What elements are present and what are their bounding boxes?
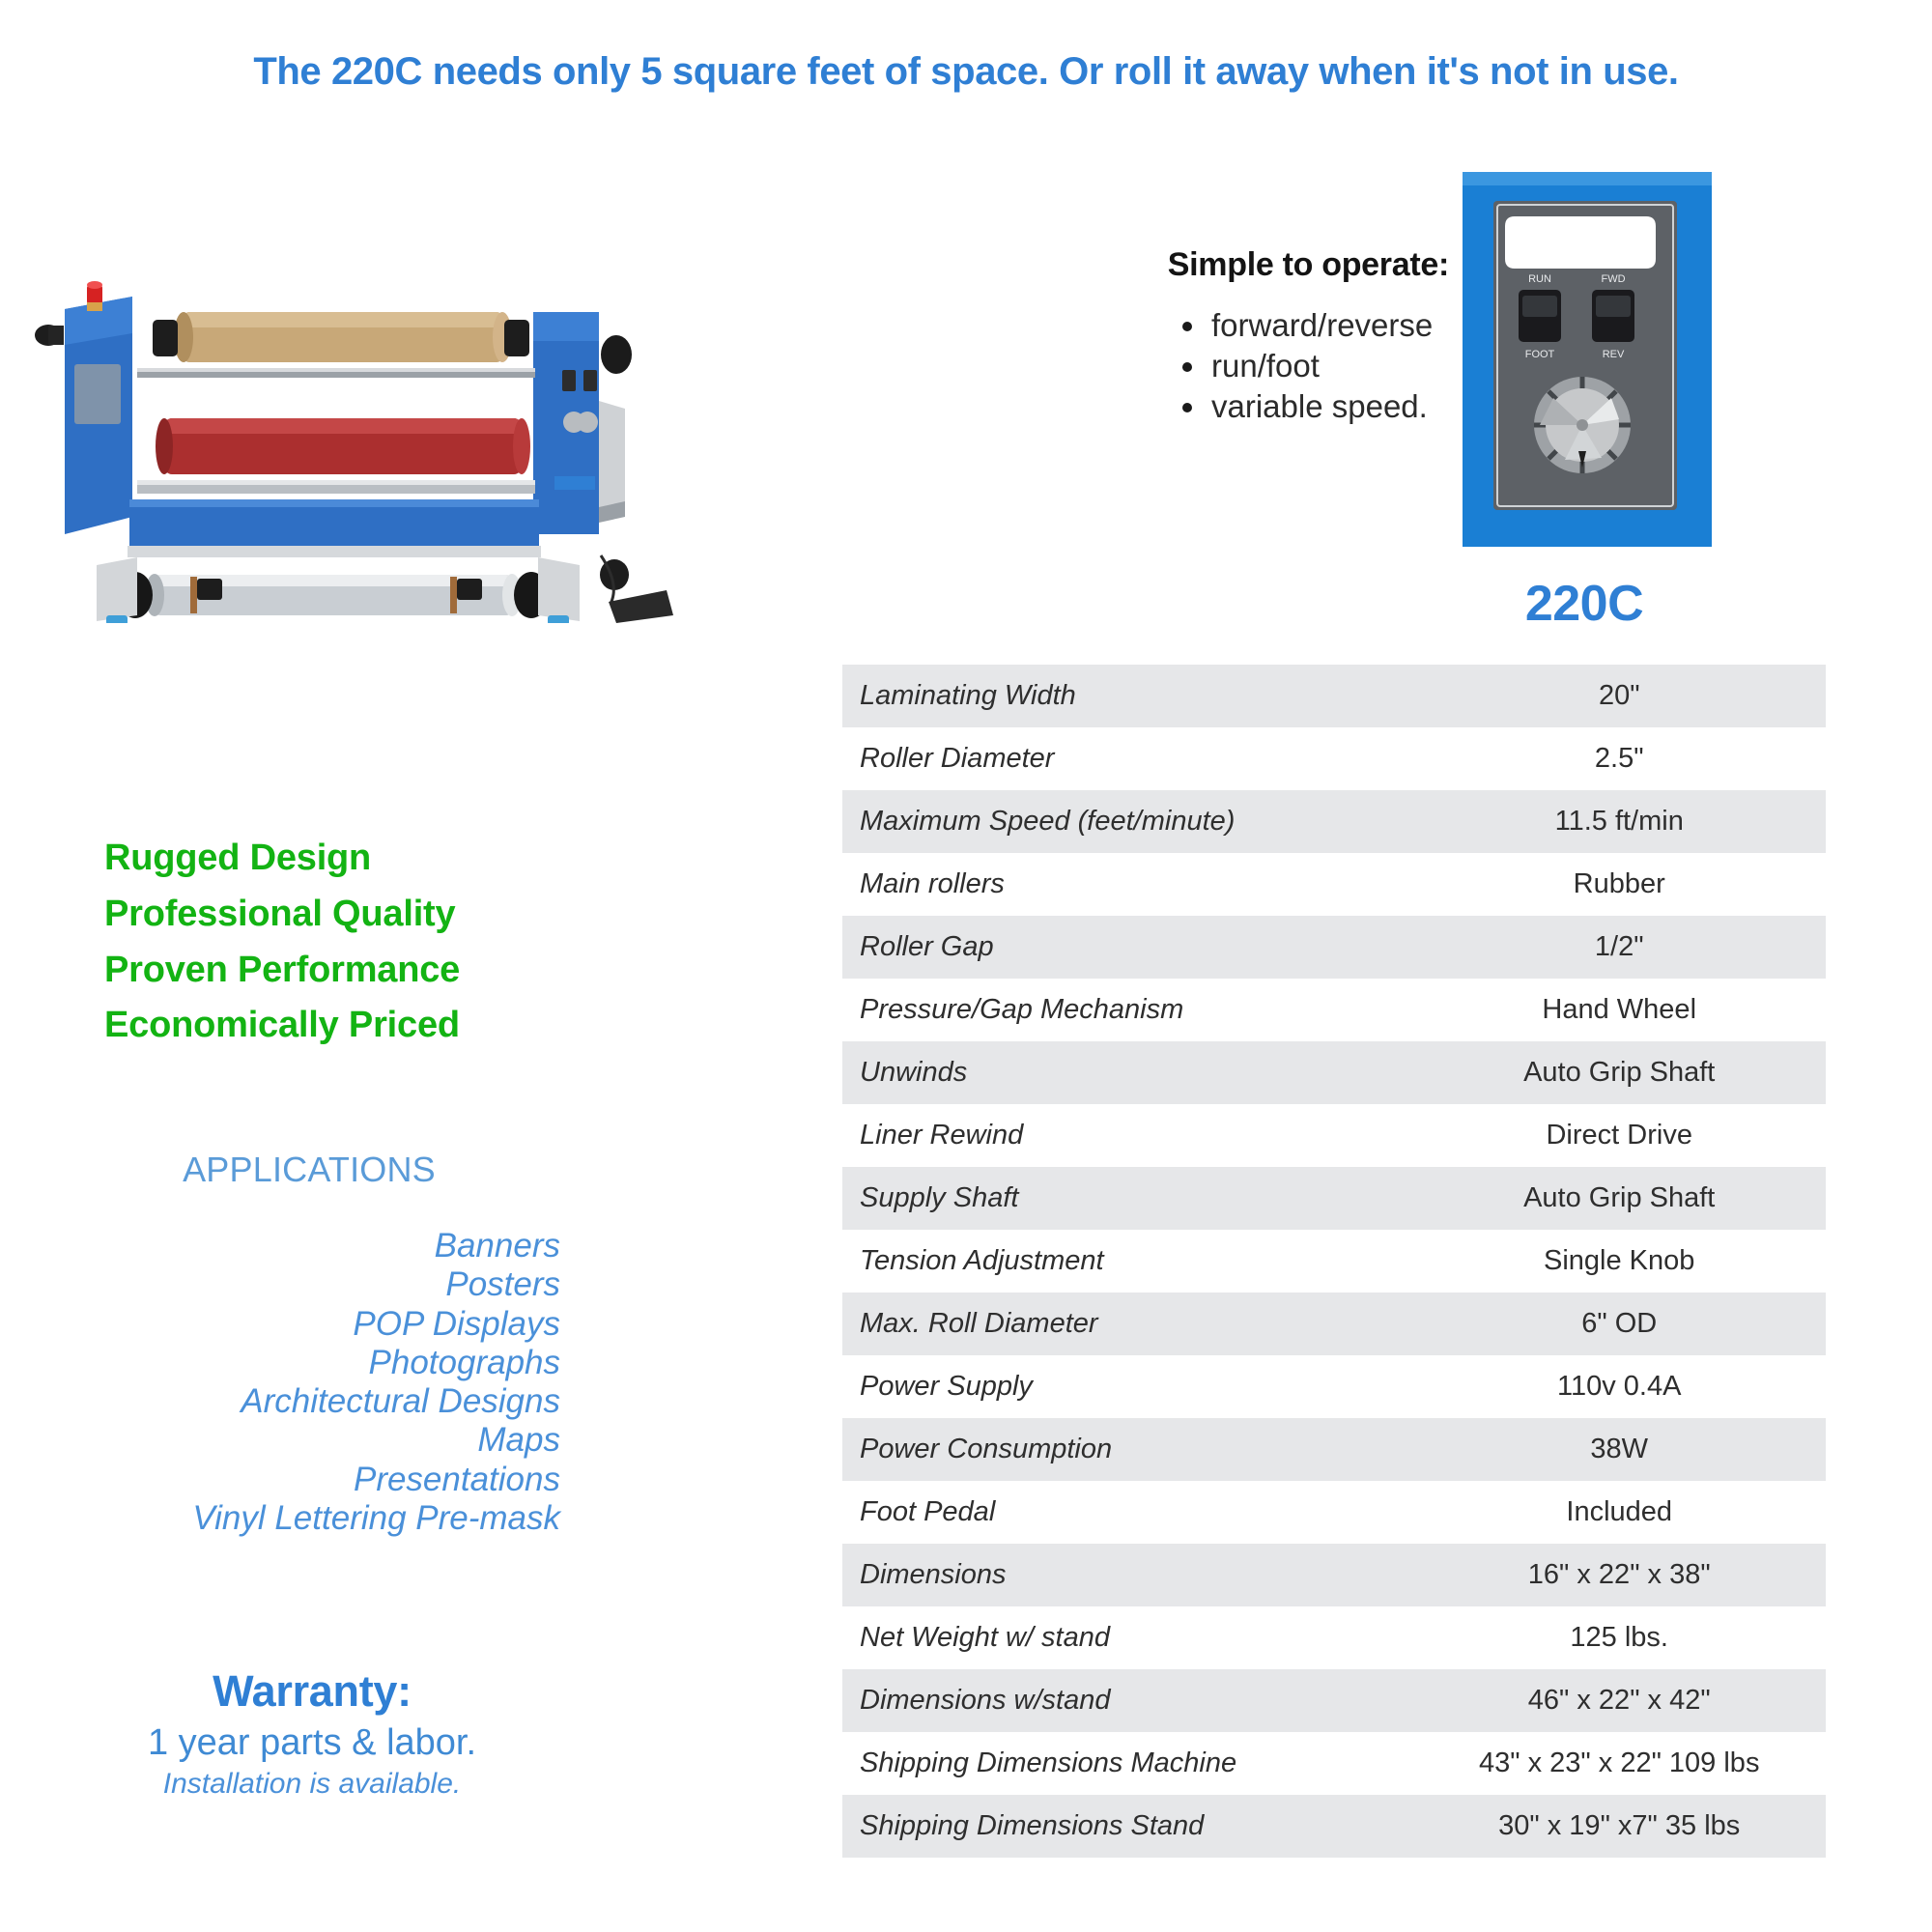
table-row: Power Consumption38W bbox=[842, 1418, 1826, 1481]
operate-feature-list: forward/reverse run/foot variable speed. bbox=[1005, 305, 1449, 428]
spec-value: 38W bbox=[1412, 1418, 1826, 1481]
table-row: Power Supply110v 0.4A bbox=[842, 1355, 1826, 1418]
table-row: Maximum Speed (feet/minute)11.5 ft/min bbox=[842, 790, 1826, 853]
spec-label: Laminating Width bbox=[842, 665, 1412, 727]
spec-value: Rubber bbox=[1412, 853, 1826, 916]
model-name: 220C bbox=[1420, 575, 1748, 633]
spec-value: Single Knob bbox=[1412, 1230, 1826, 1293]
spec-label: Pressure/Gap Mechanism bbox=[842, 979, 1412, 1041]
table-row: Shipping Dimensions Stand30" x 19" x7" 3… bbox=[842, 1795, 1826, 1858]
spec-label: Shipping Dimensions Machine bbox=[842, 1732, 1412, 1795]
panel-label-run: RUN bbox=[1528, 273, 1551, 285]
spec-value: 1/2" bbox=[1412, 916, 1826, 979]
spec-value: 11.5 ft/min bbox=[1412, 790, 1826, 853]
spec-value: 110v 0.4A bbox=[1412, 1355, 1826, 1418]
bullet-icon bbox=[1182, 322, 1192, 331]
claim-item: Economically Priced bbox=[104, 998, 723, 1054]
spec-label: Power Supply bbox=[842, 1355, 1412, 1418]
brochure-page: The 220C needs only 5 square feet of spa… bbox=[0, 0, 1932, 1932]
table-row: Main rollersRubber bbox=[842, 853, 1826, 916]
list-item: Architectural Designs bbox=[58, 1382, 560, 1421]
spec-value: Auto Grip Shaft bbox=[1412, 1041, 1826, 1104]
spec-value: 20" bbox=[1412, 665, 1826, 727]
table-row: Supply ShaftAuto Grip Shaft bbox=[842, 1167, 1826, 1230]
spec-label: Tension Adjustment bbox=[842, 1230, 1412, 1293]
list-item: Banners bbox=[58, 1227, 560, 1265]
operate-item-label: forward/reverse bbox=[1211, 307, 1433, 343]
spec-label: Unwinds bbox=[842, 1041, 1412, 1104]
claim-item: Professional Quality bbox=[104, 887, 723, 943]
warranty-installation-note: Installation is available. bbox=[56, 1768, 568, 1801]
specifications-table-body: Laminating Width20" Roller Diameter2.5" … bbox=[842, 665, 1826, 1858]
spec-label: Power Consumption bbox=[842, 1418, 1412, 1481]
spec-label: Maximum Speed (feet/minute) bbox=[842, 790, 1412, 853]
spec-label: Main rollers bbox=[842, 853, 1412, 916]
list-item: forward/reverse bbox=[1179, 305, 1449, 346]
spec-value: 16" x 22" x 38" bbox=[1412, 1544, 1826, 1606]
spec-label: Net Weight w/ stand bbox=[842, 1606, 1412, 1669]
list-item: Presentations bbox=[58, 1461, 560, 1499]
list-item: Maps bbox=[58, 1421, 560, 1460]
panel-label-foot: FOOT bbox=[1525, 349, 1555, 360]
list-item: Photographs bbox=[58, 1344, 560, 1382]
laminator-machine-photo bbox=[21, 275, 688, 623]
operate-item-label: run/foot bbox=[1211, 348, 1320, 384]
table-row: Max. Roll Diameter6" OD bbox=[842, 1293, 1826, 1355]
applications-block: APPLICATIONS Banners Posters POP Display… bbox=[58, 1150, 560, 1538]
list-item: Vinyl Lettering Pre-mask bbox=[58, 1499, 560, 1538]
applications-list: Banners Posters POP Displays Photographs… bbox=[58, 1227, 560, 1538]
page-headline: The 220C needs only 5 square feet of spa… bbox=[0, 50, 1932, 94]
specifications-table: Laminating Width20" Roller Diameter2.5" … bbox=[842, 665, 1826, 1858]
warranty-block: Warranty: 1 year parts & labor. Installa… bbox=[56, 1666, 568, 1801]
operate-item-label: variable speed. bbox=[1211, 388, 1428, 424]
spec-value: 125 lbs. bbox=[1412, 1606, 1826, 1669]
claims-block: Rugged Design Professional Quality Prove… bbox=[104, 831, 723, 1054]
table-row: Shipping Dimensions Machine43" x 23" x 2… bbox=[842, 1732, 1826, 1795]
spec-value: Direct Drive bbox=[1412, 1104, 1826, 1167]
table-row: Dimensions w/stand46" x 22" x 42" bbox=[842, 1669, 1826, 1732]
spec-value: Auto Grip Shaft bbox=[1412, 1167, 1826, 1230]
bullet-icon bbox=[1182, 403, 1192, 412]
applications-title: APPLICATIONS bbox=[58, 1150, 560, 1190]
spec-label: Foot Pedal bbox=[842, 1481, 1412, 1544]
list-item: variable speed. bbox=[1179, 386, 1449, 427]
panel-label-fwd: FWD bbox=[1601, 273, 1625, 285]
warranty-terms: 1 year parts & labor. bbox=[56, 1722, 568, 1764]
spec-label: Shipping Dimensions Stand bbox=[842, 1795, 1412, 1858]
spec-value: 46" x 22" x 42" bbox=[1412, 1669, 1826, 1732]
spec-label: Supply Shaft bbox=[842, 1167, 1412, 1230]
table-row: Laminating Width20" bbox=[842, 665, 1826, 727]
table-row: Tension AdjustmentSingle Knob bbox=[842, 1230, 1826, 1293]
table-row: Foot PedalIncluded bbox=[842, 1481, 1826, 1544]
table-row: Dimensions16" x 22" x 38" bbox=[842, 1544, 1826, 1606]
spec-value: Included bbox=[1412, 1481, 1826, 1544]
spec-value: 43" x 23" x 22" 109 lbs bbox=[1412, 1732, 1826, 1795]
spec-label: Roller Gap bbox=[842, 916, 1412, 979]
table-row: Pressure/Gap MechanismHand Wheel bbox=[842, 979, 1826, 1041]
panel-label-rev: REV bbox=[1603, 349, 1625, 360]
spec-value: 2.5" bbox=[1412, 727, 1826, 790]
simple-to-operate-title: Simple to operate: bbox=[1005, 246, 1449, 284]
spec-label: Roller Diameter bbox=[842, 727, 1412, 790]
claim-item: Rugged Design bbox=[104, 831, 723, 887]
bullet-icon bbox=[1182, 362, 1192, 372]
list-item: run/foot bbox=[1179, 346, 1449, 386]
simple-to-operate-block: Simple to operate: forward/reverse run/f… bbox=[1005, 246, 1449, 428]
spec-value: 6" OD bbox=[1412, 1293, 1826, 1355]
spec-label: Max. Roll Diameter bbox=[842, 1293, 1412, 1355]
spec-label: Dimensions w/stand bbox=[842, 1669, 1412, 1732]
spec-label: Dimensions bbox=[842, 1544, 1412, 1606]
control-panel-photo: RUN FWD FOOT REV bbox=[1457, 166, 1718, 553]
table-row: Roller Gap1/2" bbox=[842, 916, 1826, 979]
table-row: Liner RewindDirect Drive bbox=[842, 1104, 1826, 1167]
table-row: UnwindsAuto Grip Shaft bbox=[842, 1041, 1826, 1104]
spec-value: Hand Wheel bbox=[1412, 979, 1826, 1041]
warranty-title: Warranty: bbox=[56, 1666, 568, 1717]
list-item: Posters bbox=[58, 1265, 560, 1304]
list-item: POP Displays bbox=[58, 1305, 560, 1344]
claim-item: Proven Performance bbox=[104, 943, 723, 999]
table-row: Net Weight w/ stand125 lbs. bbox=[842, 1606, 1826, 1669]
spec-label: Liner Rewind bbox=[842, 1104, 1412, 1167]
spec-value: 30" x 19" x7" 35 lbs bbox=[1412, 1795, 1826, 1858]
table-row: Roller Diameter2.5" bbox=[842, 727, 1826, 790]
